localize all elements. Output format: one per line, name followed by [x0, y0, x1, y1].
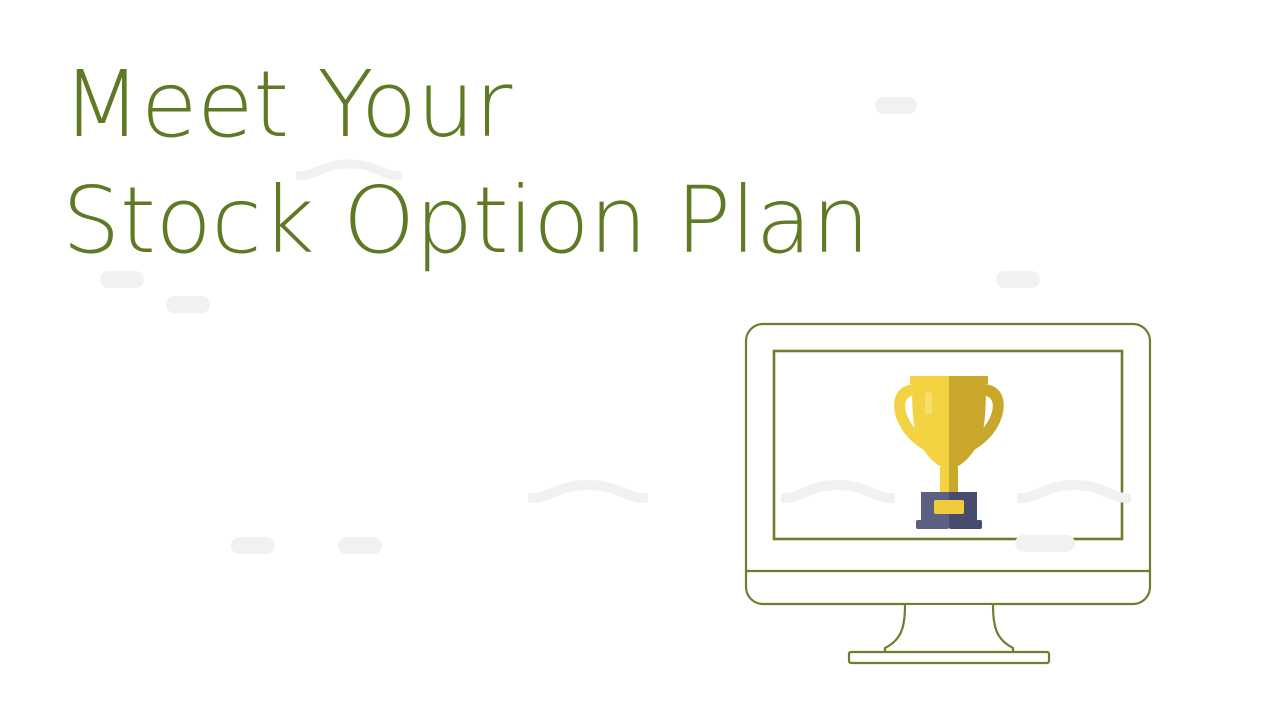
title-line-2: Stock Option Plan [62, 164, 882, 278]
trophy-highlight [925, 392, 932, 414]
monitor-base [849, 652, 1049, 663]
deco-wave-screen-left [781, 476, 895, 506]
title-line-1: Meet Your [62, 48, 882, 162]
trophy-cup-right [949, 380, 986, 470]
deco-wave-center [528, 476, 648, 506]
trophy-icon [888, 370, 1010, 530]
deco-pill-5 [231, 537, 275, 554]
monitor-stand [885, 605, 1013, 653]
page-title: Meet Your Stock Option Plan [62, 48, 882, 278]
title-slide: Meet Your Stock Option Plan [0, 0, 1280, 720]
deco-wave-screen-right [1017, 476, 1131, 506]
trophy-plaque [934, 500, 964, 514]
deco-pill-7 [1015, 535, 1075, 552]
trophy-stem-left [940, 467, 949, 495]
trophy-stem-right [949, 467, 958, 495]
deco-pill-3 [166, 296, 210, 313]
monitor-illustration [735, 318, 1165, 678]
trophy-rim-right [949, 376, 988, 384]
trophy-svg [888, 370, 1010, 530]
deco-pill-4 [996, 271, 1040, 288]
deco-pill-6 [338, 537, 382, 554]
trophy-rim-left [910, 376, 949, 384]
trophy-foot-left [916, 520, 949, 529]
trophy-foot-right [949, 520, 982, 529]
